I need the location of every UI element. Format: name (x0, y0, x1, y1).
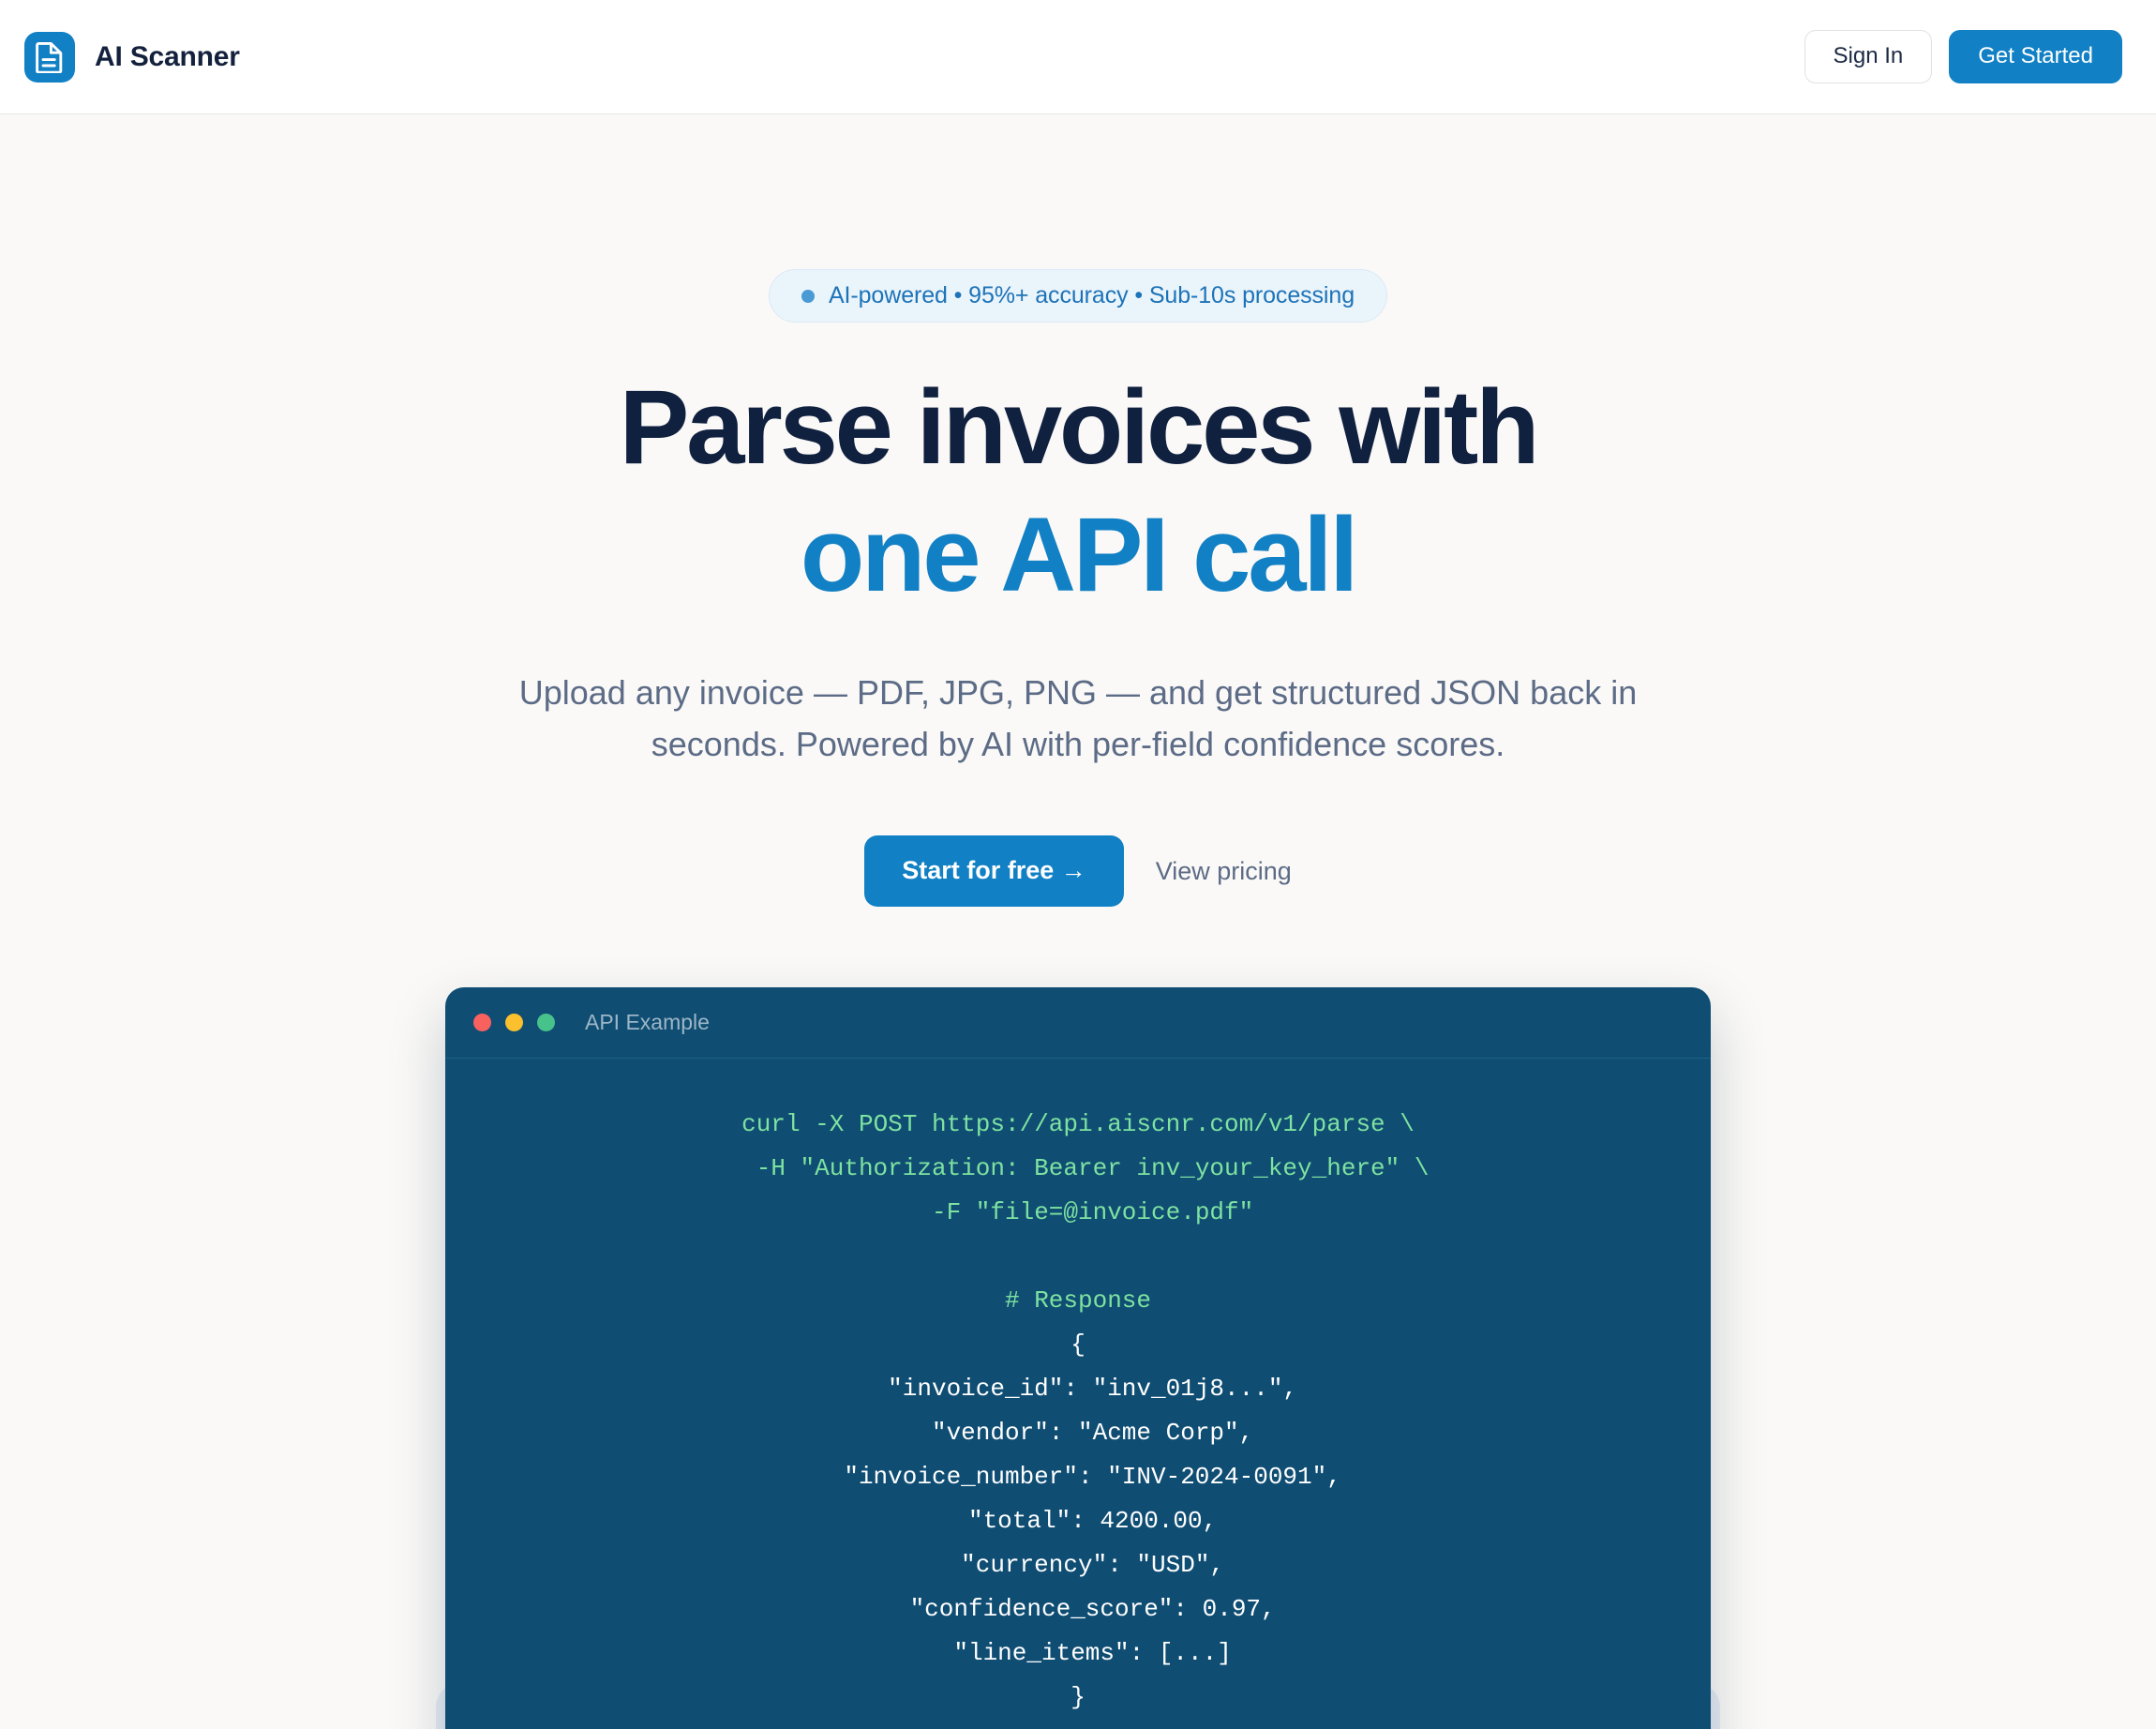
brand[interactable]: AI Scanner (24, 32, 240, 83)
code-line: # Response (1005, 1286, 1151, 1315)
badge-dot-icon (801, 290, 815, 303)
code-line: { (1071, 1331, 1085, 1359)
code-line (1071, 1242, 1085, 1270)
code-example-stage: API Example curl -X POST https://api.ais… (0, 987, 2156, 1729)
hero-subheadline: Upload any invoice — PDF, JPG, PNG — and… (469, 668, 1687, 770)
code-line: -F "file=@invoice.pdf" (903, 1198, 1253, 1226)
header-actions: Sign In Get Started (1804, 30, 2122, 83)
code-line: "confidence_score": 0.97, (880, 1595, 1275, 1623)
hero-cta-row: Start for free → View pricing (0, 835, 2156, 907)
code-line: curl -X POST https://api.aiscnr.com/v1/p… (741, 1110, 1415, 1138)
brand-name: AI Scanner (95, 41, 240, 73)
code-line: "vendor": "Acme Corp", (903, 1419, 1253, 1447)
hero-section: AI-powered • 95%+ accuracy • Sub-10s pro… (0, 114, 2156, 1729)
start-for-free-button[interactable]: Start for free → (864, 835, 1124, 907)
code-block: curl -X POST https://api.aiscnr.com/v1/p… (445, 1059, 1711, 1729)
code-line: } (1071, 1683, 1085, 1711)
code-line: -H "Authorization: Bearer inv_your_key_h… (727, 1154, 1430, 1182)
get-started-button[interactable]: Get Started (1949, 30, 2122, 83)
minimize-dot-icon[interactable] (505, 1014, 523, 1031)
maximize-dot-icon[interactable] (537, 1014, 555, 1031)
close-dot-icon[interactable] (473, 1014, 491, 1031)
headline-line-2: one API call (0, 503, 2156, 608)
code-window-title: API Example (585, 1010, 710, 1035)
status-badge: AI-powered • 95%+ accuracy • Sub-10s pro… (769, 269, 1387, 323)
document-icon (24, 32, 75, 83)
code-line: "invoice_number": "INV-2024-0091", (815, 1463, 1341, 1491)
code-window-titlebar: API Example (445, 987, 1711, 1059)
code-line: "total": 4200.00, (939, 1507, 1217, 1535)
site-header: AI Scanner Sign In Get Started (0, 0, 2156, 114)
code-line: "invoice_id": "inv_01j8...", (859, 1375, 1297, 1403)
code-lines: curl -X POST https://api.aiscnr.com/v1/p… (727, 1110, 1430, 1711)
code-line: "line_items": [...] (924, 1639, 1232, 1667)
api-example-window: API Example curl -X POST https://api.ais… (445, 987, 1711, 1729)
code-line: "currency": "USD", (932, 1551, 1224, 1579)
sign-in-button[interactable]: Sign In (1804, 30, 1933, 83)
page-title: Parse invoices with one API call (0, 375, 2156, 608)
view-pricing-link[interactable]: View pricing (1156, 857, 1292, 886)
headline-line-1: Parse invoices with (620, 368, 1537, 486)
badge-label: AI-powered • 95%+ accuracy • Sub-10s pro… (829, 282, 1355, 309)
